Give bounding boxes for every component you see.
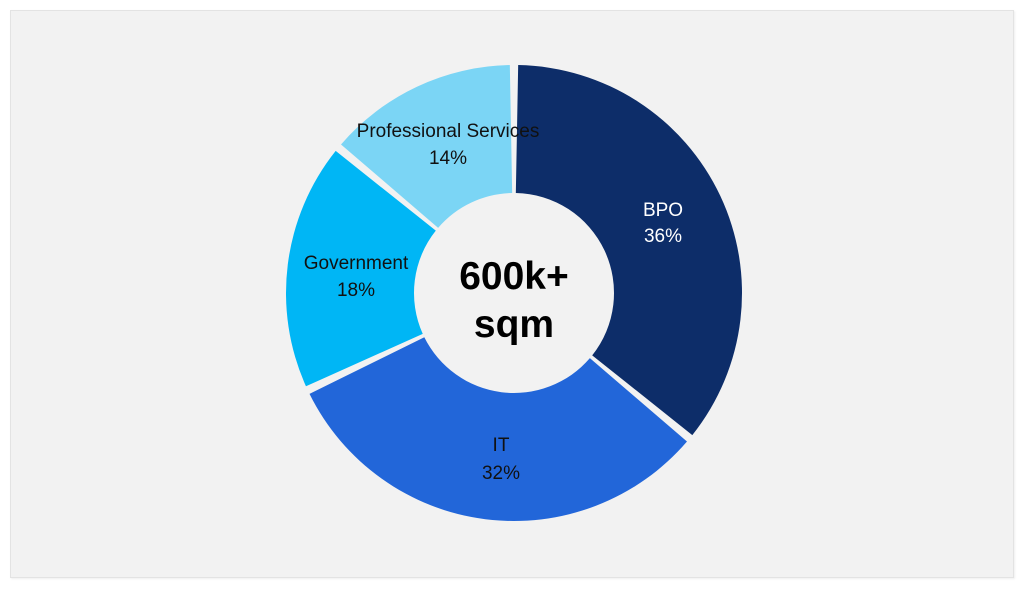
donut-chart: BPO 36% IT 32% Government 18% Profession… [11, 11, 1015, 579]
slice-value-it: 32% [482, 463, 520, 484]
slice-label-government: Government [304, 253, 409, 274]
chart-panel: BPO 36% IT 32% Government 18% Profession… [10, 10, 1014, 578]
center-label-line2: sqm [474, 303, 554, 346]
slide-canvas: BPO 36% IT 32% Government 18% Profession… [0, 0, 1024, 592]
slice-label-bpo: BPO [643, 200, 683, 221]
donut-slice-bpo[interactable] [516, 65, 742, 435]
slice-label-it: IT [493, 435, 510, 456]
slice-value-professional-services: 14% [429, 148, 467, 169]
slice-value-bpo: 36% [644, 226, 682, 247]
slice-label-professional-services: Professional Services [357, 121, 540, 142]
center-label-line1: 600k+ [459, 255, 569, 298]
slice-value-government: 18% [337, 280, 375, 301]
